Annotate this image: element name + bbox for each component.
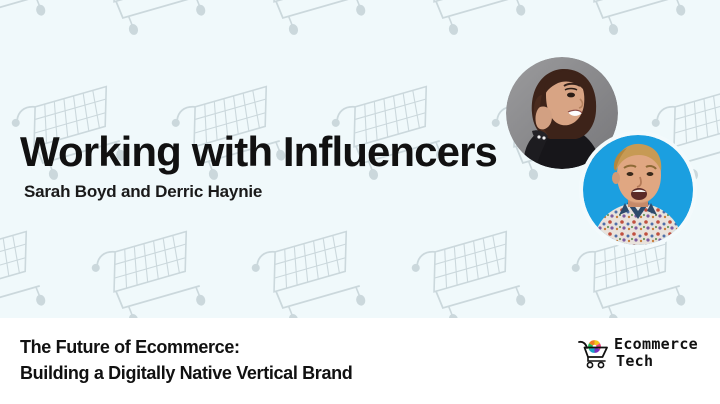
session-title-line-2: Building a Digitally Native Vertical Bra… [20,363,352,383]
bottom-title-bar: The Future of Ecommerce: Building a Digi… [0,318,720,404]
brand-wordmark-line-2: Tech [616,353,698,370]
session-title: The Future of Ecommerce: Building a Digi… [20,334,352,386]
shopping-cart-logo-icon [577,336,611,370]
page-title: Working with Influencers [20,128,497,176]
avatar-speaker-man[interactable] [583,135,693,245]
session-title-line-1: The Future of Ecommerce: [20,337,240,357]
headline-block: Working with Influencers Sarah Boyd and … [20,128,497,202]
presentation-slide: Working with Influencers Sarah Boyd and … [0,0,720,404]
speakers-label: Sarah Boyd and Derric Haynie [24,182,497,202]
brand-wordmark: Ecommerce Tech [614,336,698,370]
brand-wordmark-line-1: Ecommerce [614,336,698,353]
brand-logo[interactable]: Ecommerce Tech [577,336,698,370]
